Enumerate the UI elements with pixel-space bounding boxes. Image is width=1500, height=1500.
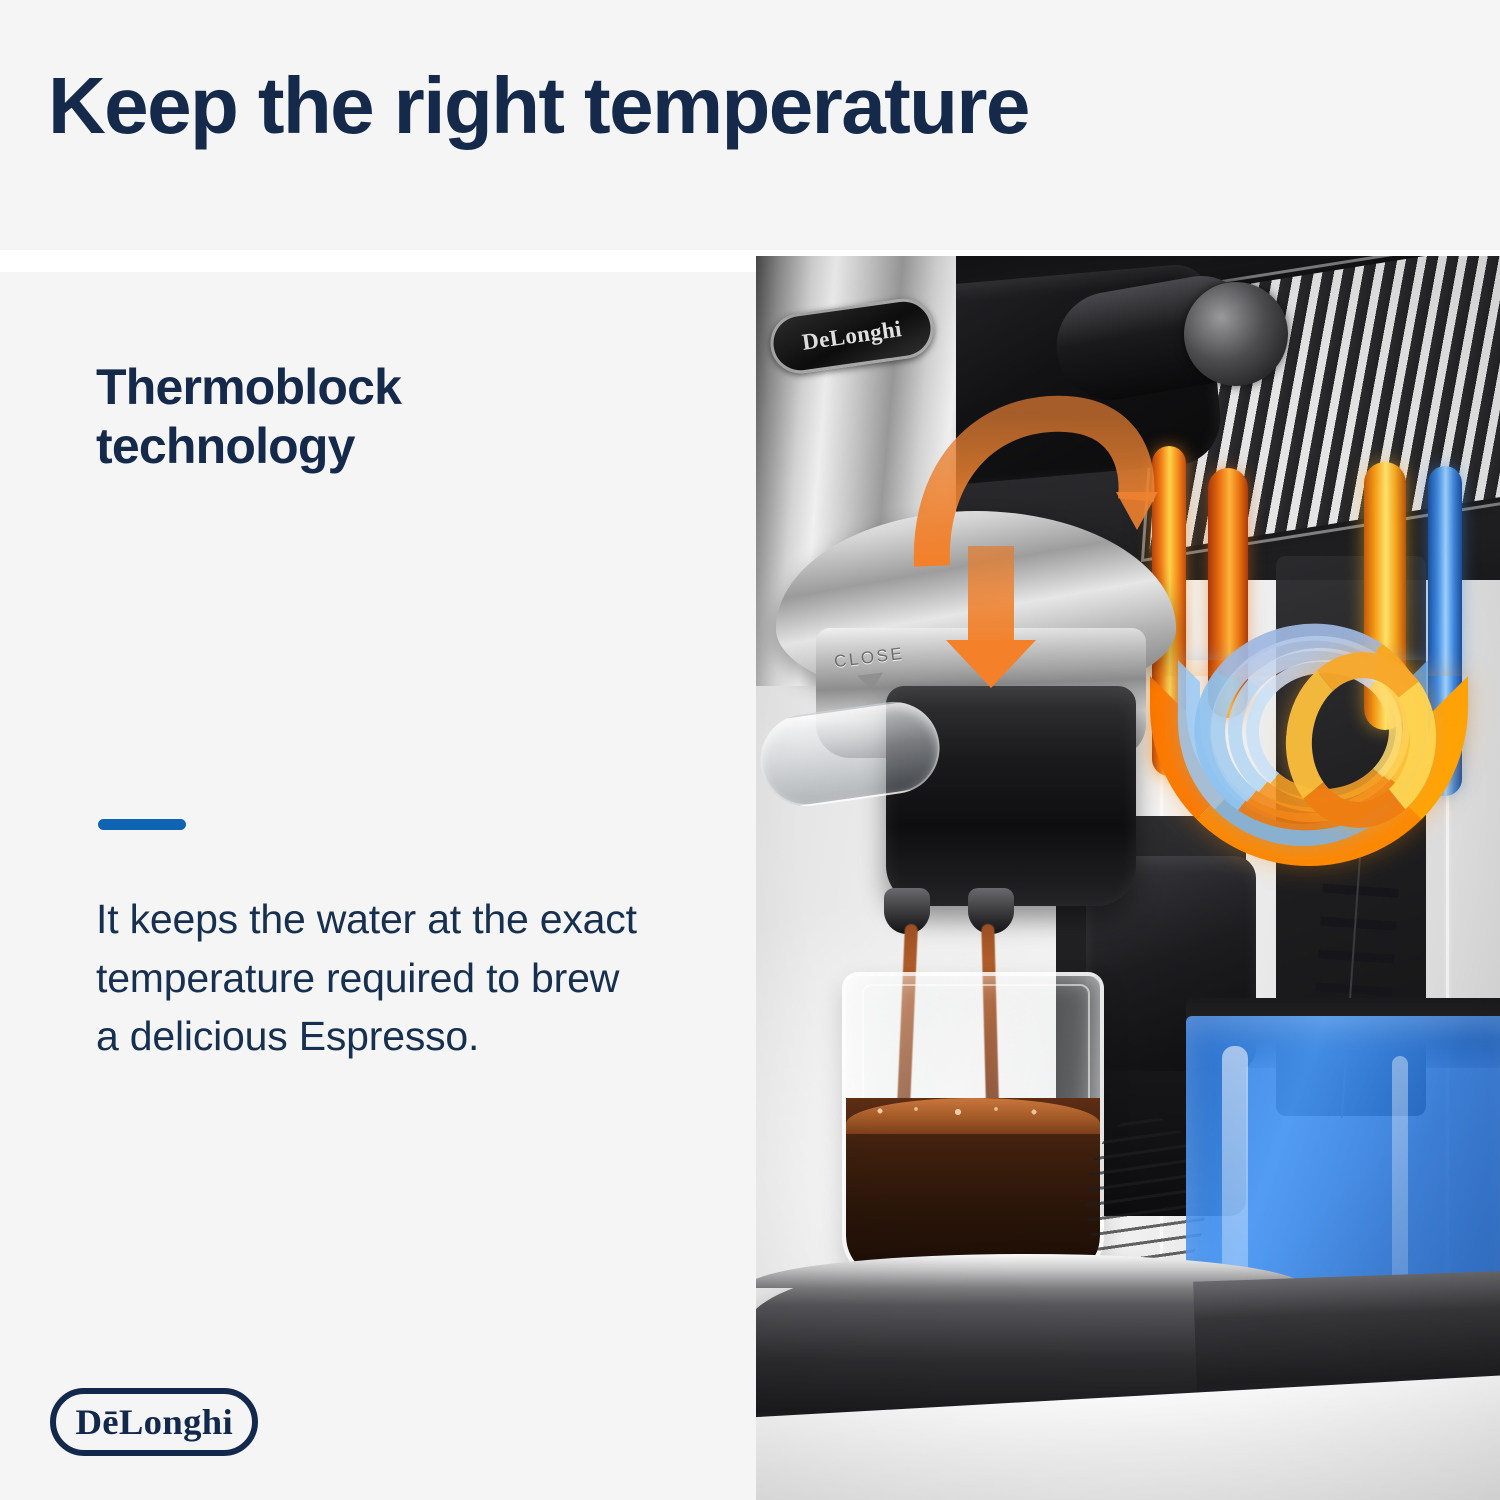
delonghi-logo: DēLonghi (50, 1388, 258, 1456)
feature-title: Thermoblock technology (96, 358, 656, 476)
page-title: Keep the right temperature (48, 64, 1029, 148)
crema-layer (846, 1098, 1100, 1134)
accent-divider (98, 819, 186, 830)
brew-head-close-triangle-icon (857, 672, 885, 691)
thermoblock-coil (1136, 446, 1486, 876)
delonghi-logo-text: DēLonghi (75, 1404, 233, 1440)
espresso-liquid (846, 1098, 1100, 1278)
espresso-glass-cup (842, 972, 1104, 1282)
header-band: Keep the right temperature (0, 0, 1500, 250)
product-photo: DeLonghi CLOSE (756, 256, 1500, 1500)
machine-brand-badge-text: DeLonghi (801, 316, 904, 356)
water-flow-arrow-icon (926, 396, 1156, 686)
feature-description: It keeps the water at the exact temperat… (96, 890, 641, 1066)
crema-bubbles (870, 1104, 1070, 1118)
infographic-page: Keep the right temperature Thermoblock t… (0, 0, 1500, 1500)
